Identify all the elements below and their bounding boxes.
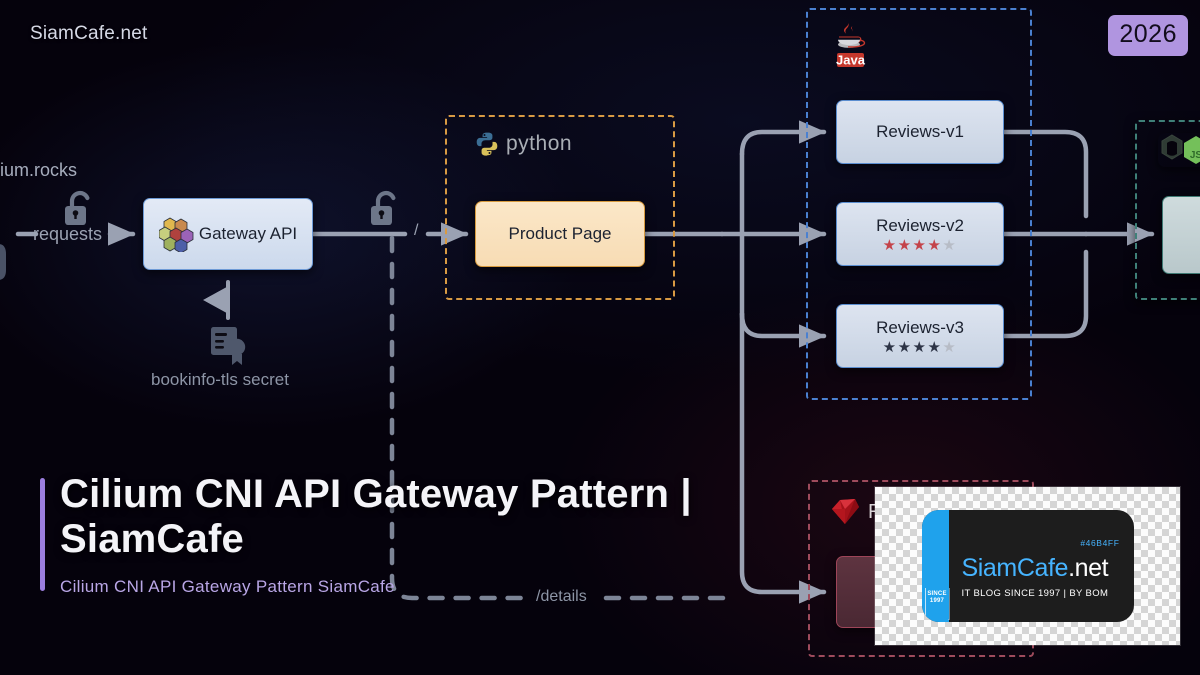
brand-tld-text: .net [1068, 554, 1108, 582]
year-badge: 2026 [1108, 15, 1188, 56]
ruby-logo-icon [828, 497, 862, 527]
node-reviews-v2-rating: ★★★★★ [883, 238, 958, 253]
since-ribbon-line2: 1997 [930, 598, 944, 605]
title-accent-bar [40, 478, 45, 591]
node-gateway-api-label: Gateway API [199, 224, 297, 244]
node-product-page[interactable]: Product Page [475, 201, 645, 267]
python-logo-icon [474, 131, 500, 157]
node-product-page-label: Product Page [508, 224, 611, 244]
brand-name: SiamCafe.net [962, 556, 1134, 581]
page-subtitle: Cilium CNI API Gateway Pattern SiamCafe [60, 577, 800, 597]
nodejs-logo: JS [1158, 133, 1200, 167]
entry-domain-label: ilium.rocks [0, 160, 77, 181]
java-logo-icon: Java [830, 20, 870, 72]
python-logo: python [474, 131, 572, 157]
tls-secret-label: bookinfo-tls secret [151, 370, 289, 390]
python-logo-text: python [506, 132, 572, 156]
nodejs-logo-icon: JS [1158, 133, 1200, 167]
node-reviews-v1[interactable]: Reviews-v1 [836, 100, 1004, 164]
java-logo: Java [830, 20, 870, 72]
brand-card: SINCE 1997 #46B4FF SiamCafe.net IT BLOG … [922, 510, 1134, 622]
cilium-hexagons-icon [159, 216, 195, 252]
node-reviews-v3[interactable]: Reviews-v3 ★★★★★ [836, 304, 1004, 368]
route-root-label: / [414, 222, 418, 240]
node-reviews-v2-label: Reviews-v2 [876, 216, 964, 236]
svg-text:Java: Java [836, 53, 866, 68]
since-ribbon-line1: SINCE [927, 591, 946, 598]
requests-label: requests [33, 224, 102, 245]
node-ratings[interactable] [1162, 196, 1200, 274]
brand-tagline: IT BLOG SINCE 1997 | BY BOM [962, 588, 1134, 599]
node-reviews-v1-label: Reviews-v1 [876, 122, 964, 142]
unlocked-padlock-icon-route [368, 189, 404, 236]
node-gateway-api[interactable]: Gateway API [143, 198, 313, 270]
title-block: Cilium CNI API Gateway Pattern | SiamCaf… [40, 472, 800, 597]
node-reviews-v3-label: Reviews-v3 [876, 318, 964, 338]
client-icon-cutoff [0, 240, 12, 289]
brand-body: #46B4FF SiamCafe.net IT BLOG SINCE 1997 … [962, 534, 1134, 599]
node-reviews-v2[interactable]: Reviews-v2 ★★★★★ [836, 202, 1004, 266]
site-watermark: SiamCafe.net [30, 23, 148, 45]
page-title: Cilium CNI API Gateway Pattern | SiamCaf… [60, 472, 800, 562]
svg-text:JS: JS [1190, 150, 1200, 161]
node-reviews-v3-rating: ★★★★★ [883, 340, 958, 355]
brand-logo-overlay: SINCE 1997 #46B4FF SiamCafe.net IT BLOG … [875, 487, 1180, 645]
brand-hex-code: #46B4FF [1080, 538, 1119, 548]
certificate-secret-icon [209, 325, 253, 372]
brand-name-text: SiamCafe [962, 554, 1069, 582]
